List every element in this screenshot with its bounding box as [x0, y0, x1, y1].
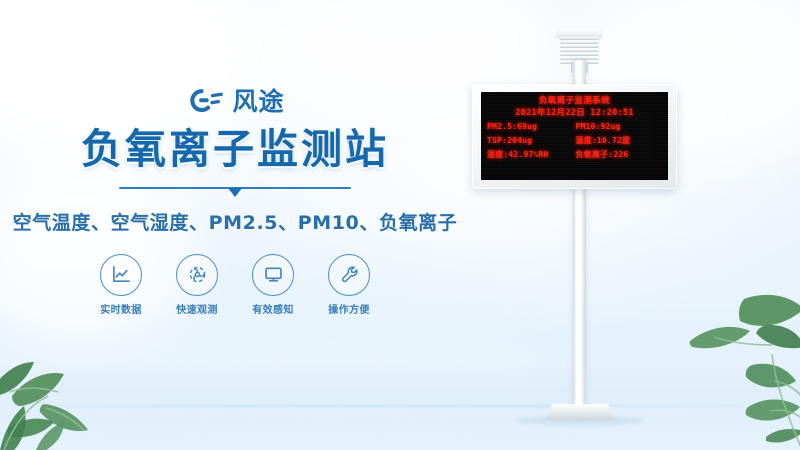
feature-label: 有效感知: [247, 301, 299, 316]
led-reading-temperature: 温度:10.72度: [576, 137, 665, 145]
feature-item-easy-operation[interactable]: 操作方便: [323, 254, 375, 316]
monitor-icon: [252, 254, 294, 296]
led-screen: 负氧离子监测系统 2021年12月22日 12:20:51 PM2.5:69ug…: [481, 92, 668, 180]
led-display-unit[interactable]: 负氧离子监测系统 2021年12月22日 12:20:51 PM2.5:69ug…: [472, 84, 677, 189]
led-reading-pm10: PM10:92ug: [576, 123, 665, 131]
page-title: 负氧离子监测站: [0, 127, 470, 173]
led-reading-pm25: PM2.5:69ug: [487, 123, 576, 131]
pole-base-icon: [545, 404, 615, 420]
leaf-plant-right-icon: [674, 285, 800, 450]
feature-item-effective-sensing[interactable]: 有效感知: [247, 254, 299, 316]
led-title: 负氧离子监测系统: [481, 97, 668, 106]
led-datetime: 2021年12月22日 12:20:51: [481, 109, 668, 118]
wind-g-logo-icon: [185, 88, 225, 114]
title-divider: [119, 185, 351, 196]
headline-block: 风途 负氧离子监测站 空气温度、空气湿度、PM2.5、PM10、负氧离子 实时数…: [0, 84, 470, 316]
line-chart-icon: [100, 254, 142, 296]
brand-name: 风途: [232, 89, 284, 114]
feature-label: 操作方便: [323, 301, 375, 316]
poster-canvas: 风途 负氧离子监测站 空气温度、空气湿度、PM2.5、PM10、负氧离子 实时数…: [0, 0, 800, 450]
triangle-down-icon: [228, 188, 242, 197]
sensor-fan-icon: [176, 254, 218, 296]
feature-label: 快速观测: [171, 301, 223, 316]
subtitle: 空气温度、空气湿度、PM2.5、PM10、负氧离子: [0, 208, 470, 235]
feature-item-fast-observation[interactable]: 快速观测: [171, 254, 223, 316]
led-reading-tsp: TSP:204ug: [487, 137, 576, 145]
leaf-plant-left-icon: [0, 300, 134, 450]
led-readings-grid: PM2.5:69ug PM10:92ug TSP:204ug 温度:10.72度…: [487, 123, 664, 159]
led-reading-negative-ion: 负氧离子:226: [576, 151, 665, 159]
led-reading-humidity: 湿度:42.97%RH: [487, 151, 576, 159]
brand-logo: 风途: [0, 84, 470, 118]
wrench-icon: [328, 254, 370, 296]
